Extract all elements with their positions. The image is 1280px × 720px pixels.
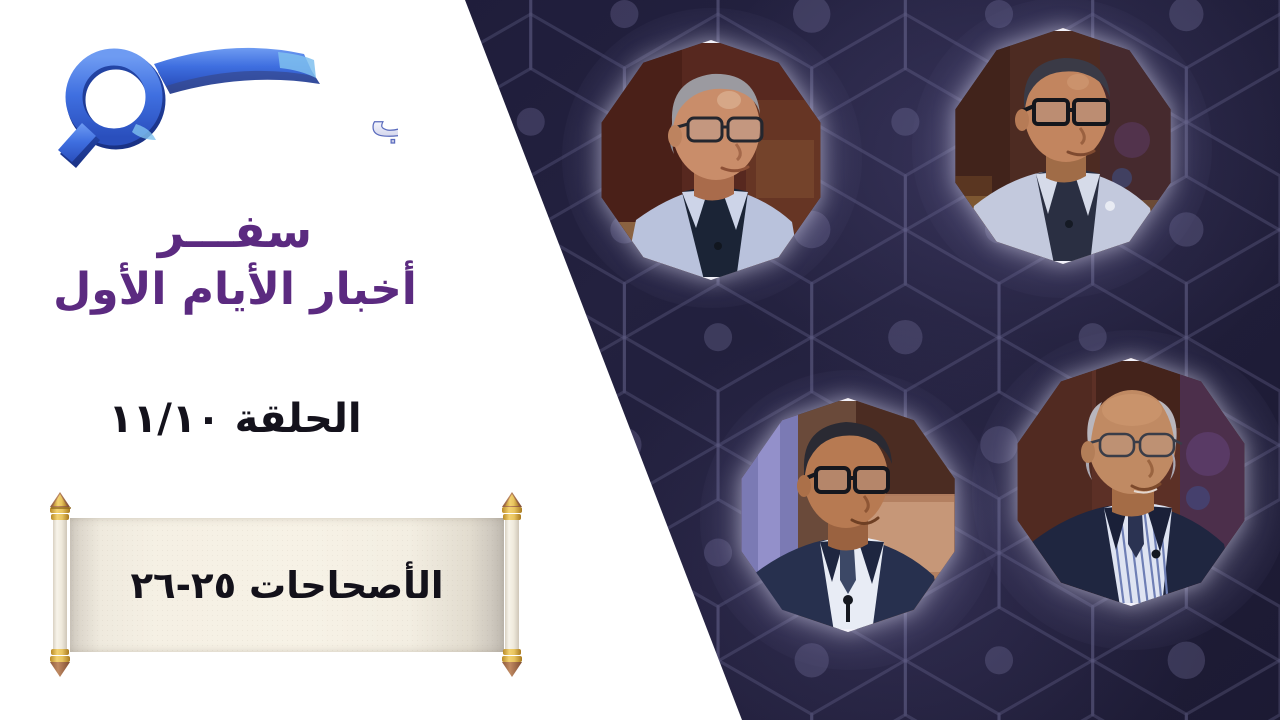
guest-portrait-bottom-right xyxy=(1012,358,1250,606)
guest-portrait-bottom-left xyxy=(736,398,960,632)
chapters-label: الأصحاحات ٢٥-٢٦ xyxy=(70,518,504,652)
chapters-scroll-banner: الأصحاحات ٢٥-٢٦ xyxy=(42,492,532,677)
logo-artwork: فاحصين الكتب xyxy=(38,28,398,178)
book-word: سفـــر xyxy=(0,206,470,258)
episode-label: الحلقة ١١/١٠ xyxy=(0,396,470,442)
scroll-rod-left xyxy=(48,492,72,677)
title-card: فاحصين الكتب سفـــر أخبار الأيام الأول ا… xyxy=(0,0,1280,720)
guest-portrait-top-left xyxy=(596,40,826,280)
logo-wordmark: فاحصين الكتب xyxy=(370,92,398,148)
title-block: سفـــر أخبار الأيام الأول xyxy=(0,206,470,315)
guest-portrait-top-right xyxy=(950,28,1176,264)
book-name: أخبار الأيام الأول xyxy=(0,264,470,316)
program-logo[interactable]: فاحصين الكتب xyxy=(38,28,398,178)
